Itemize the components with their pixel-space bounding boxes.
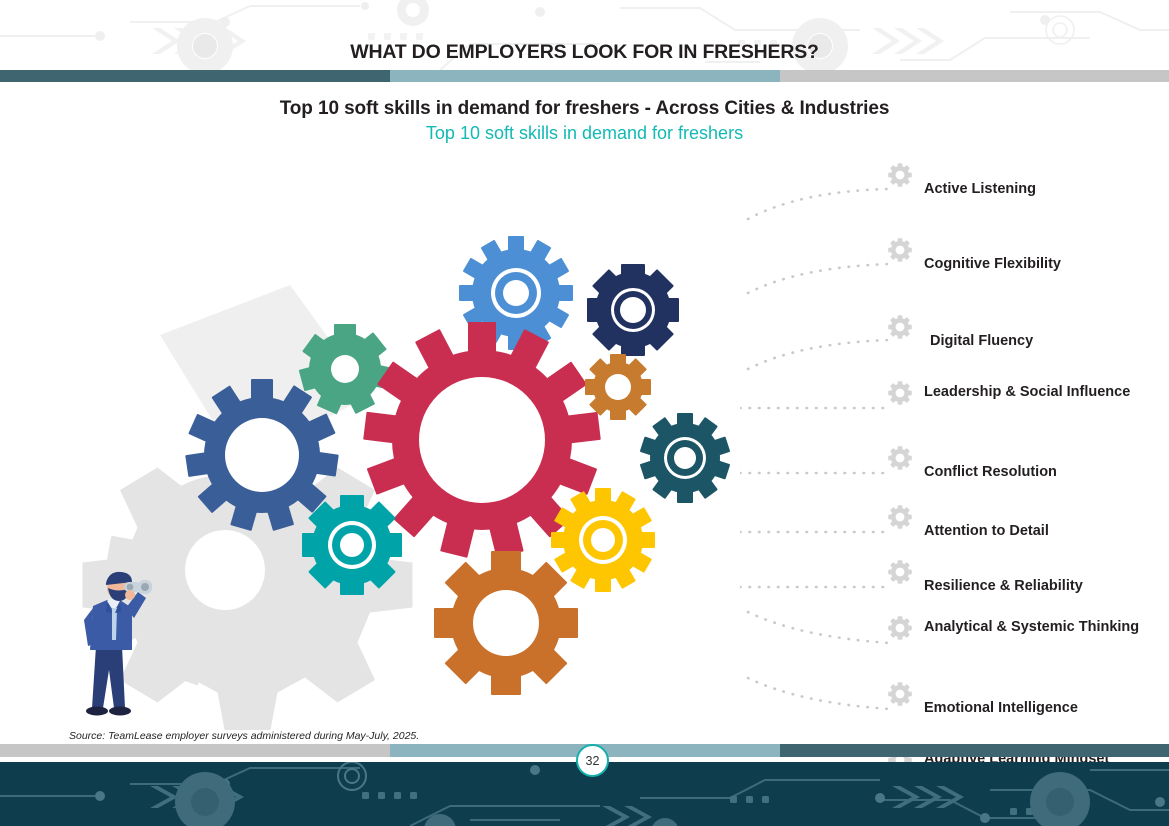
gear-bullet-icon	[886, 313, 914, 341]
gear-bullet-icon	[886, 444, 914, 472]
skill-label: Analytical & Systemic Thinking	[924, 616, 1164, 638]
page-title: WHAT DO EMPLOYERS LOOK FOR IN FRESHERS?	[0, 41, 1169, 64]
skill-label: Cognitive Flexibility	[924, 253, 1164, 275]
header-accent-bar	[0, 70, 1169, 82]
footer-bar-segment-dark	[780, 744, 1169, 757]
skill-label: Emotional Intelligence	[924, 697, 1164, 719]
slide-root: WHAT DO EMPLOYERS LOOK FOR IN FRESHERS? …	[0, 0, 1169, 826]
accent-bar-segment-dark	[0, 70, 390, 82]
gear-bullet-icon	[886, 161, 914, 189]
skill-label: Resilience & Reliability	[924, 575, 1164, 597]
gear-bullet-icon	[886, 379, 914, 407]
gear-cyan-icon	[302, 495, 402, 595]
page-number-badge: 32	[576, 744, 609, 777]
skill-label: Conflict Resolution	[924, 461, 1164, 483]
businessman-with-binoculars-illustration	[62, 568, 162, 728]
gear-bullet-icon	[886, 503, 914, 531]
gear-yellow-icon	[551, 488, 655, 592]
gear-bullet-icon	[886, 614, 914, 642]
gear-orange-icon	[434, 551, 578, 695]
skill-label: Attention to Detail	[924, 520, 1164, 542]
dotted-connector-lines	[740, 165, 1169, 725]
skill-label: Leadership & Social Influence	[924, 381, 1164, 403]
gear-darkteal-icon	[640, 413, 731, 503]
accent-bar-segment-mid	[390, 70, 780, 82]
accent-bar-segment-light	[780, 70, 1169, 82]
gear-navy-icon	[587, 264, 679, 356]
slide-header: WHAT DO EMPLOYERS LOOK FOR IN FRESHERS?	[0, 0, 1169, 70]
skill-label: Digital Fluency	[930, 330, 1169, 352]
gear-bullet-icon	[886, 236, 914, 264]
skills-list: Active Listening	[740, 165, 1169, 725]
skill-label: Active Listening	[924, 178, 1164, 200]
gear-bullet-icon	[886, 558, 914, 586]
chart-subtitle: Top 10 soft skills in demand for fresher…	[0, 123, 1169, 144]
source-note: Source: TeamLease employer surveys admin…	[69, 730, 419, 742]
gear-bullet-icon	[886, 680, 914, 708]
footer-bar-segment-light	[0, 744, 390, 757]
gear-orange-small-icon	[585, 354, 651, 420]
chart-title: Top 10 soft skills in demand for fresher…	[0, 98, 1169, 120]
